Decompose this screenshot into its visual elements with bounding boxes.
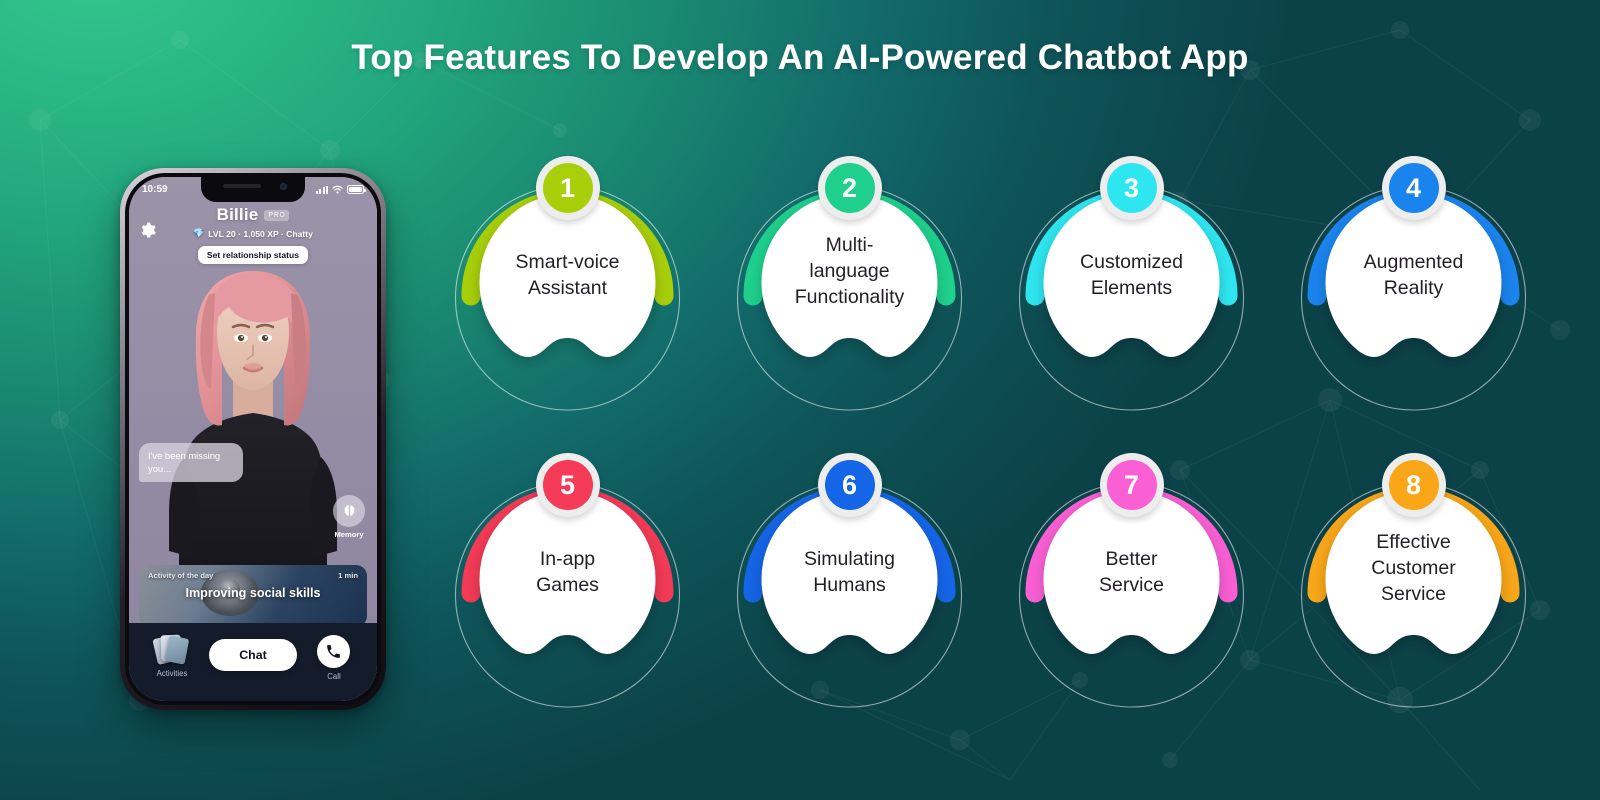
character-header: Billie PRO 💎 LVL 20 · 1,050 XP · Chatty … <box>129 205 377 264</box>
feature-label: Better Service <box>1004 547 1259 599</box>
front-camera-icon <box>280 183 287 190</box>
chat-button[interactable]: Chat <box>209 639 297 671</box>
feature-card-5[interactable]: 5 In-app Games <box>440 447 695 717</box>
wifi-icon <box>332 185 343 194</box>
pro-badge: PRO <box>264 210 289 221</box>
activity-of-the-day-card[interactable]: Activity of the day 1 min Improving soci… <box>139 565 367 627</box>
chat-bubble: I've been missing you... <box>139 443 243 482</box>
feature-number-badge: 6 <box>818 453 882 517</box>
memory-button[interactable]: Memory <box>333 495 365 539</box>
feature-card-8[interactable]: 8 Effective Customer Service <box>1286 447 1541 717</box>
phone-icon <box>325 643 342 660</box>
feature-number: 1 <box>543 163 593 213</box>
status-time: 10:59 <box>142 184 168 195</box>
feature-number-badge: 1 <box>536 156 600 220</box>
feature-number: 2 <box>825 163 875 213</box>
battery-icon <box>347 185 364 194</box>
feature-label: Smart-voice Assistant <box>440 250 695 302</box>
phone-mockup: 10:59 <box>120 168 386 710</box>
feature-label: In-app Games <box>440 547 695 599</box>
phone-bezel: 10:59 <box>125 173 381 705</box>
feature-number-badge: 7 <box>1100 453 1164 517</box>
feature-number: 6 <box>825 460 875 510</box>
brain-icon <box>341 503 358 520</box>
earpiece-speaker <box>223 184 261 188</box>
feature-number: 7 <box>1107 460 1157 510</box>
cards-stack-icon <box>155 635 189 665</box>
feature-number: 4 <box>1389 163 1439 213</box>
bottom-tab-bar: Activities Chat Call <box>129 623 377 701</box>
feature-card-7[interactable]: 7 Better Service <box>1004 447 1259 717</box>
feature-card-1[interactable]: 1 Smart-voice Assistant <box>440 150 695 420</box>
feature-label: Augmented Reality <box>1286 250 1541 302</box>
call-tab[interactable]: Call <box>305 635 363 681</box>
activities-tab[interactable]: Activities <box>143 635 201 678</box>
feature-number-badge: 3 <box>1100 156 1164 220</box>
feature-number-badge: 8 <box>1382 453 1446 517</box>
feature-number-badge: 4 <box>1382 156 1446 220</box>
activities-label: Activities <box>143 669 201 678</box>
call-label: Call <box>305 672 363 681</box>
set-relationship-status-button[interactable]: Set relationship status <box>198 246 308 264</box>
character-meta: LVL 20 · 1,050 XP · Chatty <box>208 229 313 239</box>
infographic-canvas: Top Features To Develop An AI-Powered Ch… <box>0 0 1600 800</box>
phone-notch <box>201 177 305 202</box>
activity-duration: 1 min <box>338 571 358 580</box>
page-title: Top Features To Develop An AI-Powered Ch… <box>0 38 1600 78</box>
feature-label: Customized Elements <box>1004 250 1259 302</box>
feature-number-badge: 5 <box>536 453 600 517</box>
phone-screen: 10:59 <box>129 177 377 701</box>
gem-icon: 💎 <box>193 228 204 239</box>
feature-label: Simulating Humans <box>722 547 977 599</box>
feature-number: 5 <box>543 460 593 510</box>
activity-eyebrow: Activity of the day <box>148 571 213 580</box>
feature-card-3[interactable]: 3 Customized Elements <box>1004 150 1259 420</box>
activity-title: Improving social skills <box>139 586 367 600</box>
character-name: Billie <box>217 205 259 225</box>
signal-bars-icon <box>316 186 328 194</box>
memory-label: Memory <box>333 530 365 539</box>
feature-number-badge: 2 <box>818 156 882 220</box>
gear-icon[interactable] <box>139 221 157 239</box>
feature-card-2[interactable]: 2 Multi- language Functionality <box>722 150 977 420</box>
feature-number: 3 <box>1107 163 1157 213</box>
feature-label: Effective Customer Service <box>1286 530 1541 608</box>
features-grid: 1 Smart-voice Assistant 2 Multi- languag… <box>440 150 1550 730</box>
feature-number: 8 <box>1389 460 1439 510</box>
feature-label: Multi- language Functionality <box>722 233 977 311</box>
feature-card-4[interactable]: 4 Augmented Reality <box>1286 150 1541 420</box>
feature-card-6[interactable]: 6 Simulating Humans <box>722 447 977 717</box>
